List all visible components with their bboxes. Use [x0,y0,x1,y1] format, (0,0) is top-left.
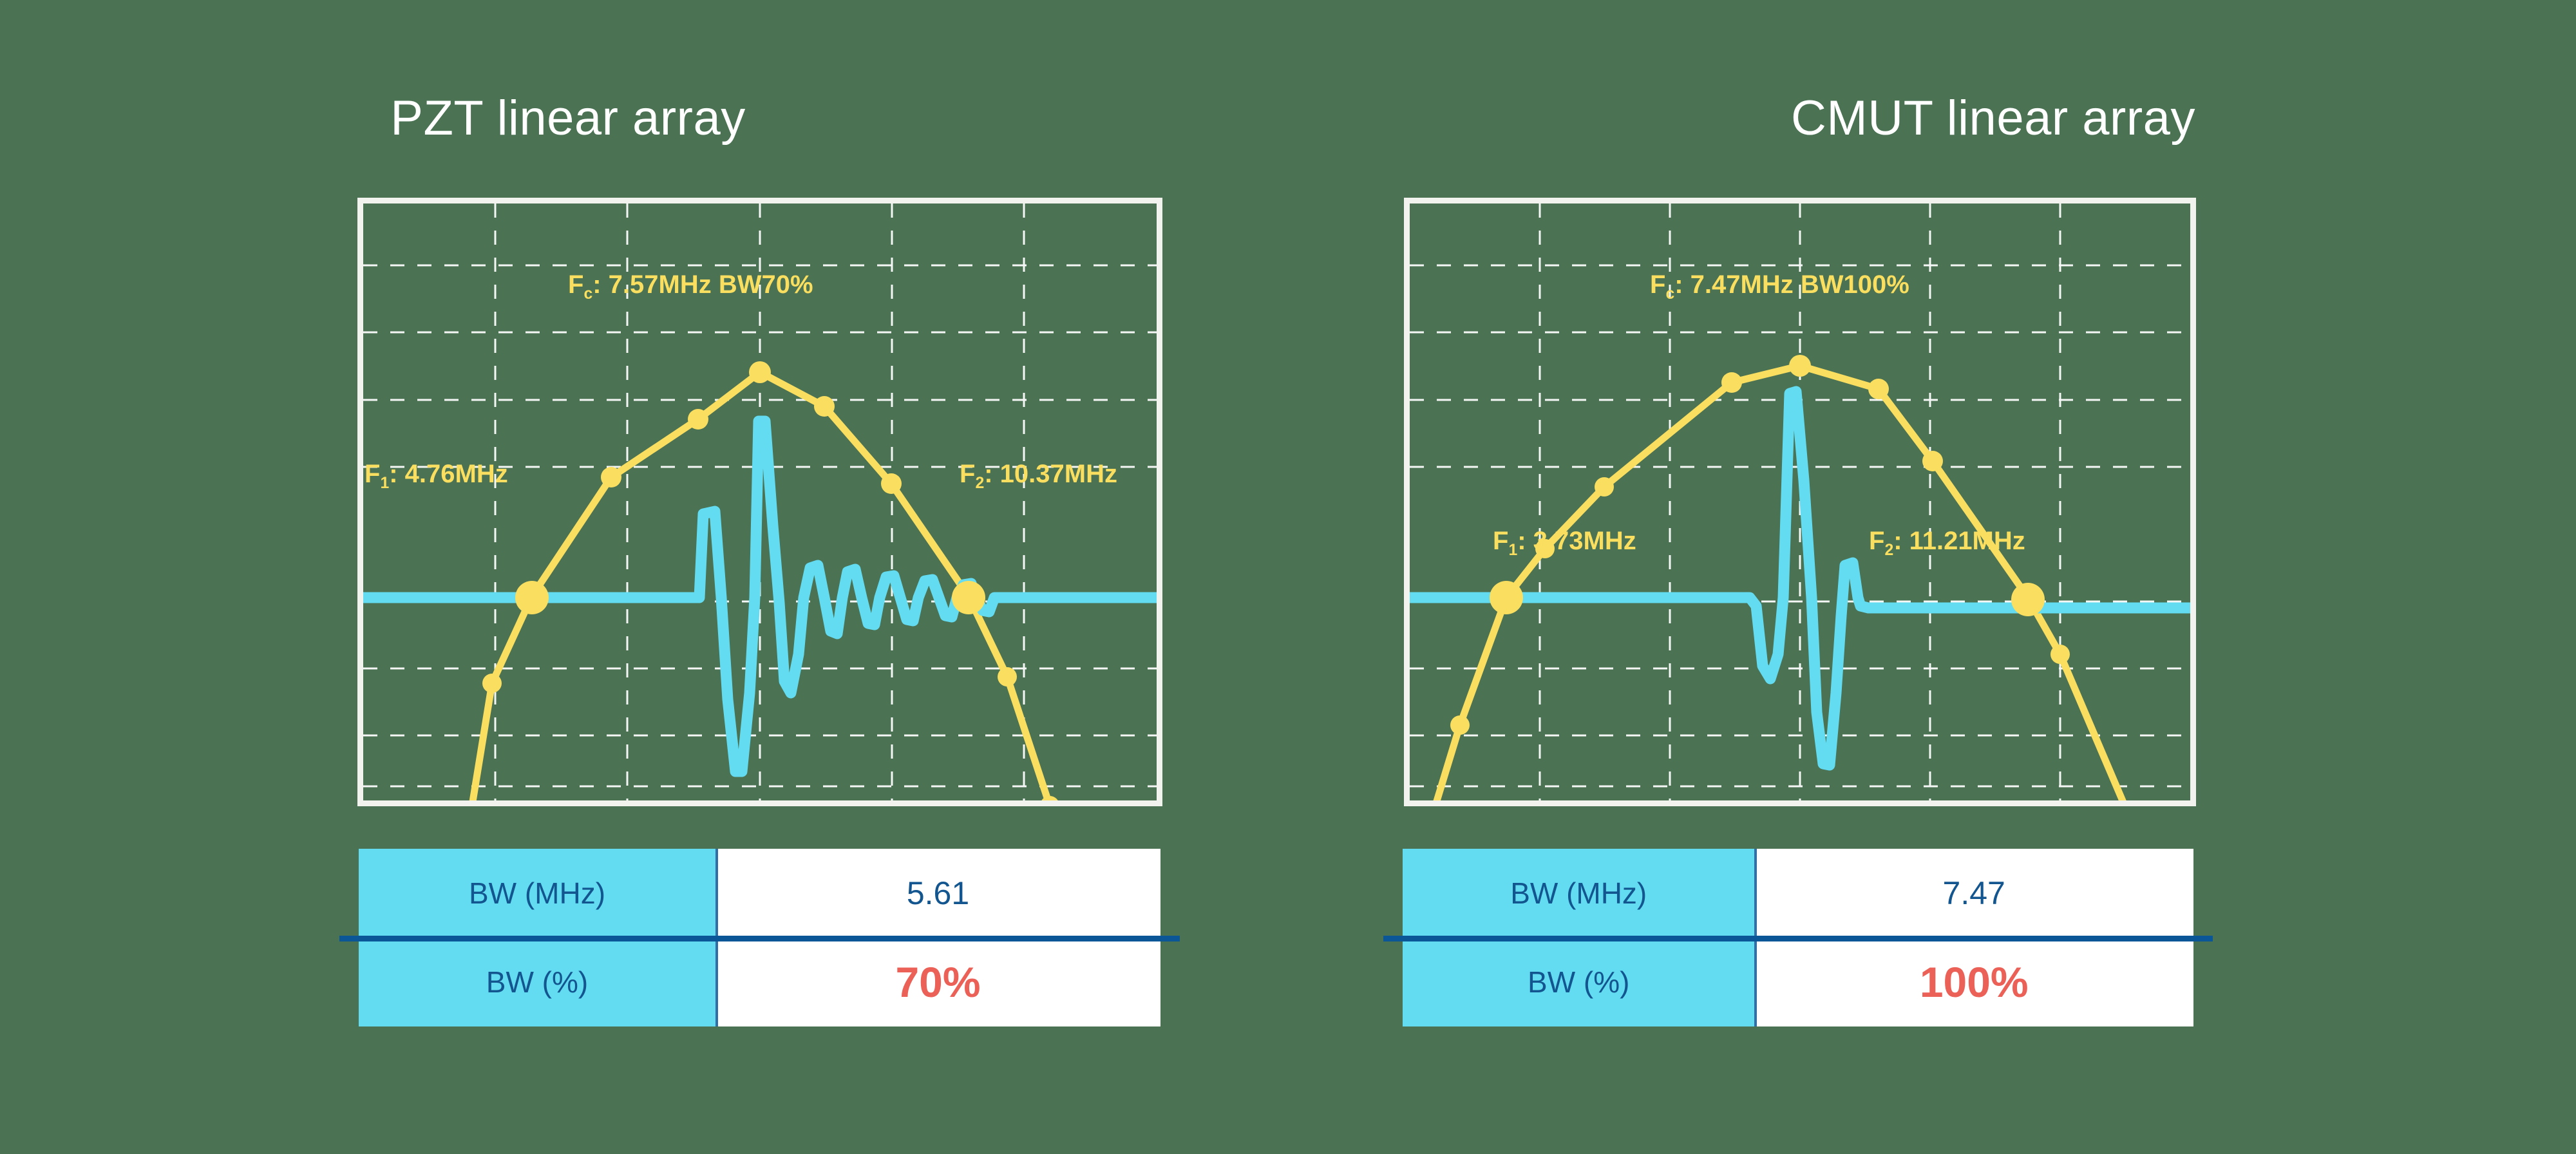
table-header-bw-percent: BW (%) [1403,938,1754,1026]
annotation-center-frequency-cmut: Fc: 7.47MHz BW100% [1650,270,1909,303]
annotation-text: : 11.21MHz [1893,527,2025,555]
lower-cutoff-marker-pzt [515,581,549,614]
table-value-bw-percent: 70% [715,938,1160,1026]
annotation-prefix: F [1493,527,1508,555]
annotation-subscript: 1 [1508,542,1517,559]
upper-cutoff-marker-pzt [952,581,985,614]
annotation-prefix: F [1650,270,1665,299]
lower-cutoff-marker-cmut [1490,581,1523,614]
annotation-upper-cutoff-pzt: F2: 10.37MHz [960,460,1117,493]
table-header-bw-percent: BW (%) [359,938,715,1026]
table-row: BW (MHz) 5.61 [359,849,1160,938]
annotation-subscript: c [583,285,592,303]
table-value-bw-percent: 100% [1754,938,2193,1026]
upper-cutoff-marker-cmut [2011,583,2045,616]
annotation-text: : 7.57MHz BW70% [592,270,813,299]
annotation-lower-cutoff-pzt: F1: 4.76MHz [365,460,508,493]
impulse-waveform-cmut [1410,392,2190,765]
annotation-prefix: F [365,460,380,488]
annotation-text: : 10.37MHz [984,460,1117,488]
table-row-divider [339,936,1180,941]
annotation-subscript: 2 [975,475,984,492]
annotation-lower-cutoff-cmut: F1: 3.73MHz [1493,527,1636,560]
table-value-bw-mhz: 7.47 [1754,849,2193,938]
panel-title-cmut: CMUT linear array [1349,90,2576,146]
table-value-bw-mhz: 5.61 [715,849,1160,938]
panel-cmut: CMUT linear array [1288,0,2576,1154]
annotation-text: : 3.73MHz [1517,527,1636,555]
annotation-prefix: F [568,270,583,299]
annotation-subscript: 2 [1884,542,1893,559]
table-header-bw-mhz: BW (MHz) [359,849,715,938]
annotation-subscript: 1 [380,475,389,492]
table-row-divider [1383,936,2213,941]
bandwidth-table-cmut: BW (MHz) 7.47 BW (%) 100% [1403,849,2193,1026]
annotation-text: : 7.47MHz BW100% [1674,270,1909,299]
bandwidth-table-pzt: BW (MHz) 5.61 BW (%) 70% [359,849,1160,1026]
table-header-bw-mhz: BW (MHz) [1403,849,1754,938]
table-row: BW (%) 70% [359,938,1160,1026]
annotation-prefix: F [960,460,975,488]
table-row: BW (%) 100% [1403,938,2193,1026]
table-row: BW (MHz) 7.47 [1403,849,2193,938]
annotation-prefix: F [1869,527,1884,555]
figure-canvas: PZT linear array [0,0,2576,1154]
annotation-subscript: c [1665,285,1674,303]
panel-title-pzt: PZT linear array [0,90,1212,146]
annotation-upper-cutoff-cmut: F2: 11.21MHz [1869,527,2025,560]
panel-pzt: PZT linear array [0,0,1288,1154]
annotation-center-frequency-pzt: Fc: 7.57MHz BW70% [568,270,813,303]
annotation-text: : 4.76MHz [389,460,508,488]
